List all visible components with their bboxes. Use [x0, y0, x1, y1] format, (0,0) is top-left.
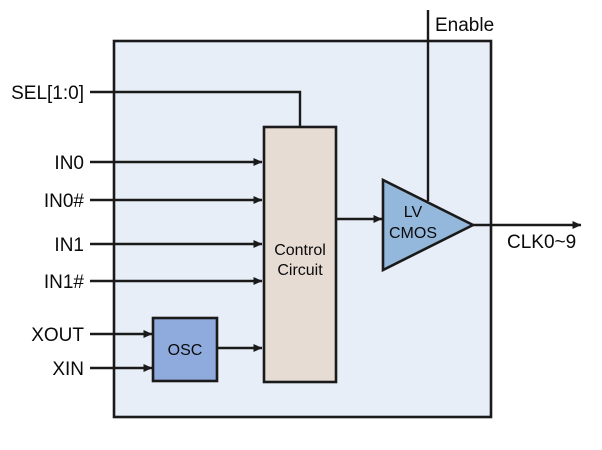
- input-label-in0: IN0: [54, 153, 84, 174]
- block-diagram-canvas: Control Circuit OSC LV CMOS SEL[1:0] IN0…: [0, 0, 602, 450]
- input-label-in1-bar: IN1#: [44, 272, 85, 293]
- input-label-in1: IN1: [54, 235, 84, 256]
- control-input-label-enable: Enable: [435, 15, 494, 36]
- input-label-sel: SEL[1:0]: [11, 83, 84, 104]
- lv-cmos-label-line2: CMOS: [389, 225, 437, 242]
- control-circuit-label-line2: Circuit: [277, 262, 323, 279]
- lv-cmos-label-line1: LV: [404, 204, 423, 221]
- osc-label: OSC: [168, 342, 203, 359]
- input-label-xout: XOUT: [31, 325, 84, 346]
- input-label-in0-bar: IN0#: [44, 191, 85, 212]
- control-circuit-label-line1: Control: [274, 242, 326, 259]
- block-diagram: Control Circuit OSC LV CMOS SEL[1:0] IN0…: [0, 0, 602, 450]
- output-label-clk: CLK0~9: [507, 232, 576, 253]
- input-label-xin: XIN: [52, 359, 84, 380]
